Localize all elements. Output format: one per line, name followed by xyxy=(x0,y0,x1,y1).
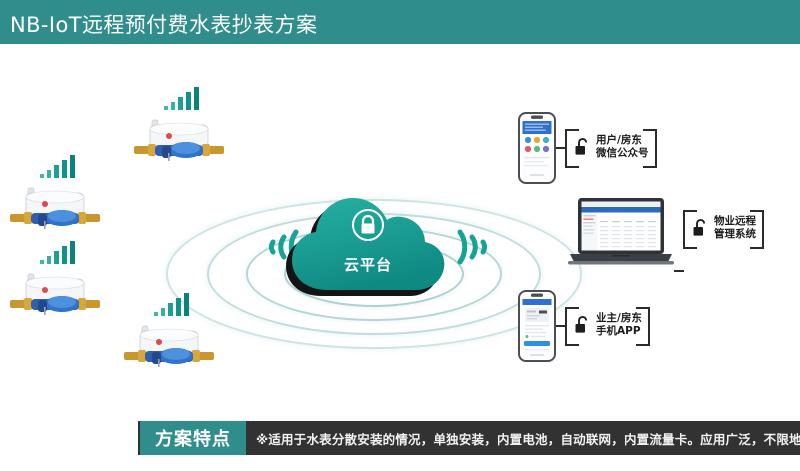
slide-canvas: NB-IoT远程预付费水表抄表方案 xyxy=(0,0,800,471)
water-meter-1[interactable] xyxy=(128,84,228,162)
unlock-icon xyxy=(692,218,709,237)
user-phone-device[interactable] xyxy=(518,112,556,189)
user-wechat-labels: 用户/房东 微信公众号 xyxy=(596,134,649,159)
water-meter-2[interactable] xyxy=(4,152,104,230)
property-management-line2: 管理系统 xyxy=(714,228,756,241)
user-wechat-frame: 用户/房东 微信公众号 xyxy=(565,129,657,164)
cloud-label: 云平台 xyxy=(288,254,448,275)
feature-badge: 方案特点 xyxy=(140,421,246,455)
water-meter-4[interactable] xyxy=(118,290,218,368)
lock-icon xyxy=(351,208,385,242)
owner-app-line2: 手机APP xyxy=(596,325,642,338)
owner-app-labels: 业主/房东 手机APP xyxy=(596,312,642,337)
signal-bars-icon xyxy=(164,87,199,110)
user-wechat-line1: 用户/房东 xyxy=(596,134,649,147)
header-bar: NB-IoT远程预付费水表抄表方案 xyxy=(0,0,800,44)
user-wechat-node[interactable]: 用户/房东 微信公众号 xyxy=(565,129,657,164)
user-wechat-line2: 微信公众号 xyxy=(596,147,649,160)
property-management-labels: 物业远程 管理系统 xyxy=(714,215,756,240)
owner-phone-device[interactable] xyxy=(518,290,556,367)
property-management-node[interactable]: 物业远程 管理系统 xyxy=(683,210,764,245)
signal-bars-icon xyxy=(40,155,75,178)
owner-app-node[interactable]: 业主/房东 手机APP xyxy=(565,307,650,342)
diagram-area: 云平台 xyxy=(0,44,800,409)
property-management-line1: 物业远程 xyxy=(714,215,756,228)
cloud-platform[interactable]: 云平台 xyxy=(288,194,448,306)
signal-bars-icon xyxy=(40,241,75,264)
owner-app-frame: 业主/房东 手机APP xyxy=(565,307,650,342)
unlock-icon xyxy=(574,137,591,156)
property-laptop-device[interactable] xyxy=(568,196,674,273)
connector-line-2 xyxy=(674,270,684,272)
feature-description: ※适用于水表分散安装的情况，单独安装，内置电池，自动联网，内置流量卡。应用广泛，… xyxy=(256,421,800,455)
page-title: NB-IoT远程预付费水表抄表方案 xyxy=(10,9,317,39)
water-meter-3[interactable] xyxy=(4,238,104,316)
unlock-icon xyxy=(574,315,591,334)
wifi-wave-right-icon xyxy=(452,216,504,278)
property-management-frame: 物业远程 管理系统 xyxy=(683,210,764,245)
signal-bars-icon xyxy=(154,293,189,316)
owner-app-line1: 业主/房东 xyxy=(596,312,642,325)
